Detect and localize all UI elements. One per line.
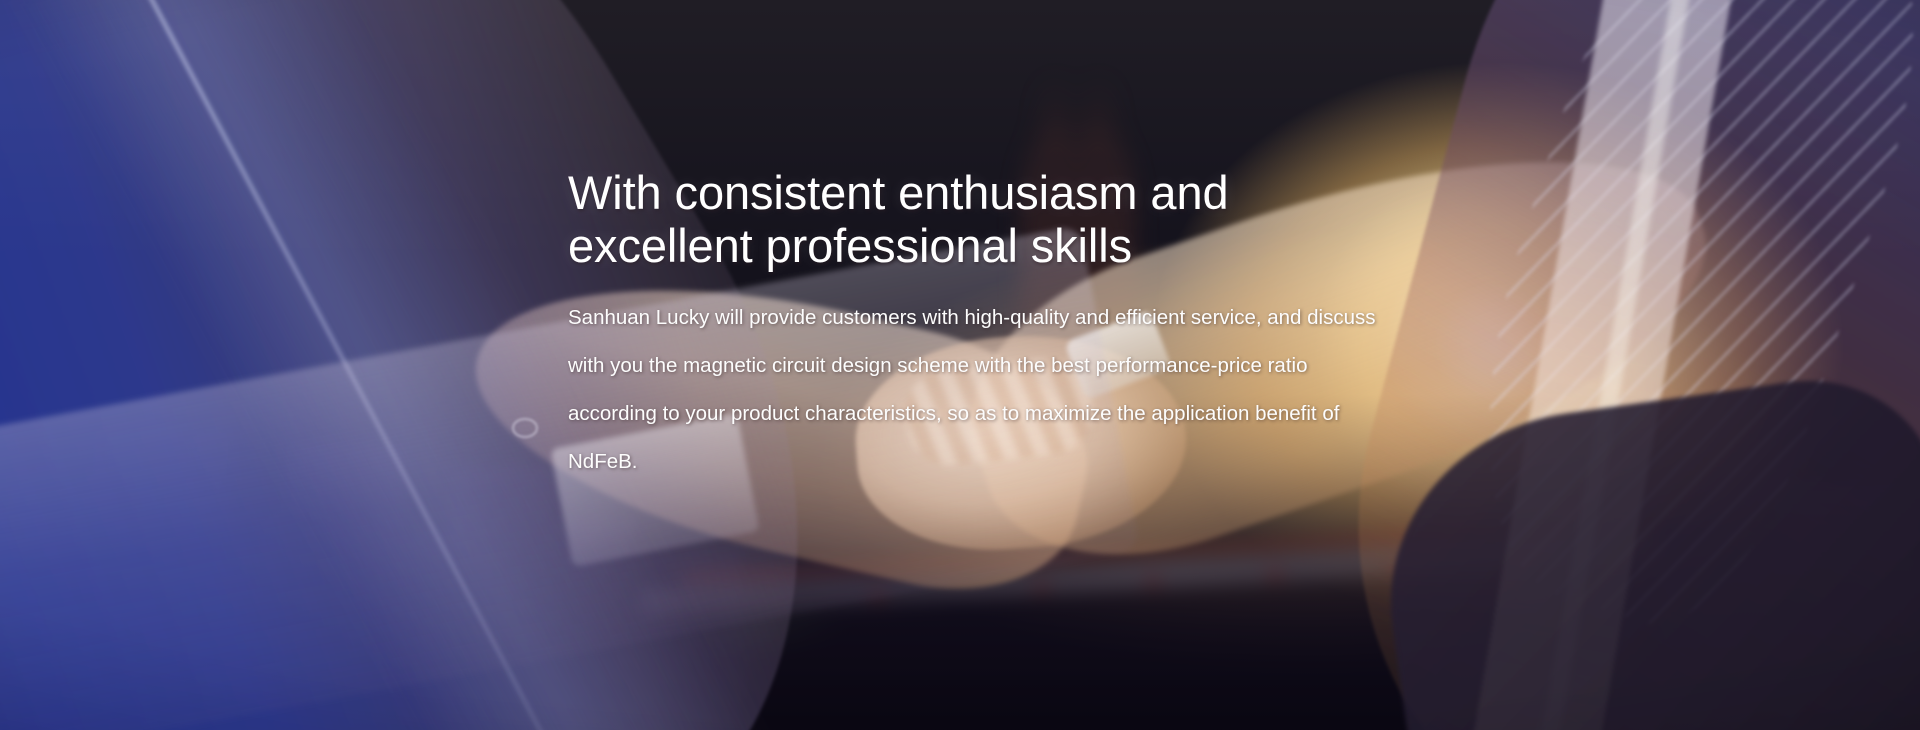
hero-copy-block: With consistent enthusiasm and excellent…	[568, 166, 1388, 486]
hero-headline: With consistent enthusiasm and excellent…	[568, 166, 1388, 272]
hero-banner: With consistent enthusiasm and excellent…	[0, 0, 1920, 730]
hero-body-text: Sanhuan Lucky will provide customers wit…	[568, 294, 1388, 486]
